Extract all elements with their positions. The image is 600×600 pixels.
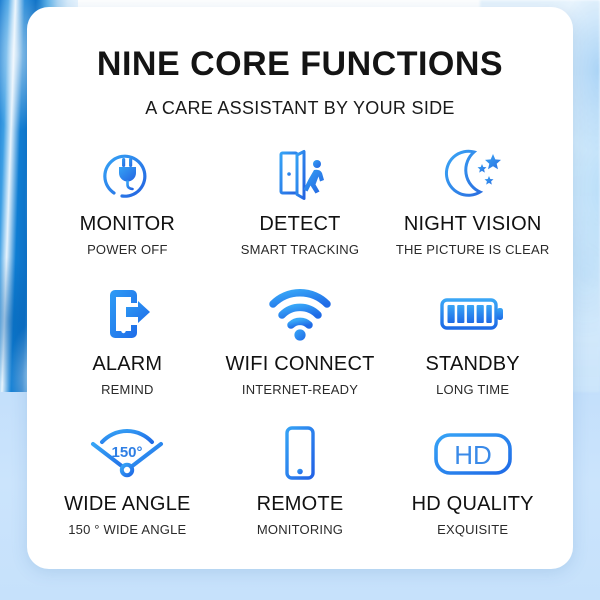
feature-sublabel: POWER OFF — [87, 242, 168, 257]
feature-sublabel: SMART TRACKING — [241, 242, 359, 257]
open-door-person-icon — [269, 141, 331, 207]
feature-grid: MONITOR POWER OFF DETECT SMART TRACKING — [27, 141, 573, 561]
feature-sublabel: MONITORING — [257, 522, 343, 537]
feature-item-monitor: MONITOR POWER OFF — [41, 141, 214, 281]
feature-label: WIFI CONNECT — [225, 353, 374, 376]
page-title: NINE CORE FUNCTIONS — [27, 45, 573, 84]
wide-angle-degrees-text: 150° — [112, 444, 143, 461]
moon-stars-icon — [441, 141, 505, 207]
phone-arrow-icon — [96, 281, 158, 347]
feature-item-detect: DETECT SMART TRACKING — [214, 141, 387, 281]
feature-sublabel: 150 ° WIDE ANGLE — [68, 522, 186, 537]
battery-full-icon — [438, 281, 508, 347]
page-subtitle: A CARE ASSISTANT BY YOUR SIDE — [27, 98, 573, 119]
feature-label: NIGHT VISION — [404, 213, 542, 236]
feature-label: ALARM — [92, 353, 162, 376]
feature-label: DETECT — [259, 213, 340, 236]
feature-label: WIDE ANGLE — [64, 493, 190, 516]
feature-label: REMOTE — [257, 493, 344, 516]
power-plug-icon — [96, 141, 158, 207]
wifi-icon — [267, 281, 333, 347]
feature-sublabel: INTERNET-READY — [242, 382, 358, 397]
feature-item-alarm: ALARM REMIND — [41, 281, 214, 421]
feature-sublabel: REMIND — [101, 382, 153, 397]
feature-item-wifi: WIFI CONNECT INTERNET-READY — [214, 281, 387, 421]
feature-item-standby: STANDBY LONG TIME — [386, 281, 559, 421]
feature-item-remote: REMOTE MONITORING — [214, 421, 387, 561]
feature-item-night-vision: NIGHT VISION THE PICTURE IS CLEAR — [386, 141, 559, 281]
feature-sublabel: THE PICTURE IS CLEAR — [396, 242, 550, 257]
phone-icon — [276, 421, 324, 487]
feature-label: STANDBY — [425, 353, 519, 376]
feature-sublabel: EXQUISITE — [437, 522, 508, 537]
wide-angle-icon: 150° — [85, 421, 169, 487]
hd-badge-icon: HD — [432, 421, 514, 487]
feature-sublabel: LONG TIME — [436, 382, 509, 397]
feature-card: NINE CORE FUNCTIONS A CARE ASSISTANT BY … — [27, 7, 573, 569]
feature-label: HD QUALITY — [412, 493, 534, 516]
feature-item-wide-angle: 150° WIDE ANGLE 150 ° WIDE ANGLE — [41, 421, 214, 561]
feature-item-hd-quality: HD HD QUALITY EXQUISITE — [386, 421, 559, 561]
hd-badge-text: HD — [454, 440, 492, 470]
feature-label: MONITOR — [80, 213, 175, 236]
